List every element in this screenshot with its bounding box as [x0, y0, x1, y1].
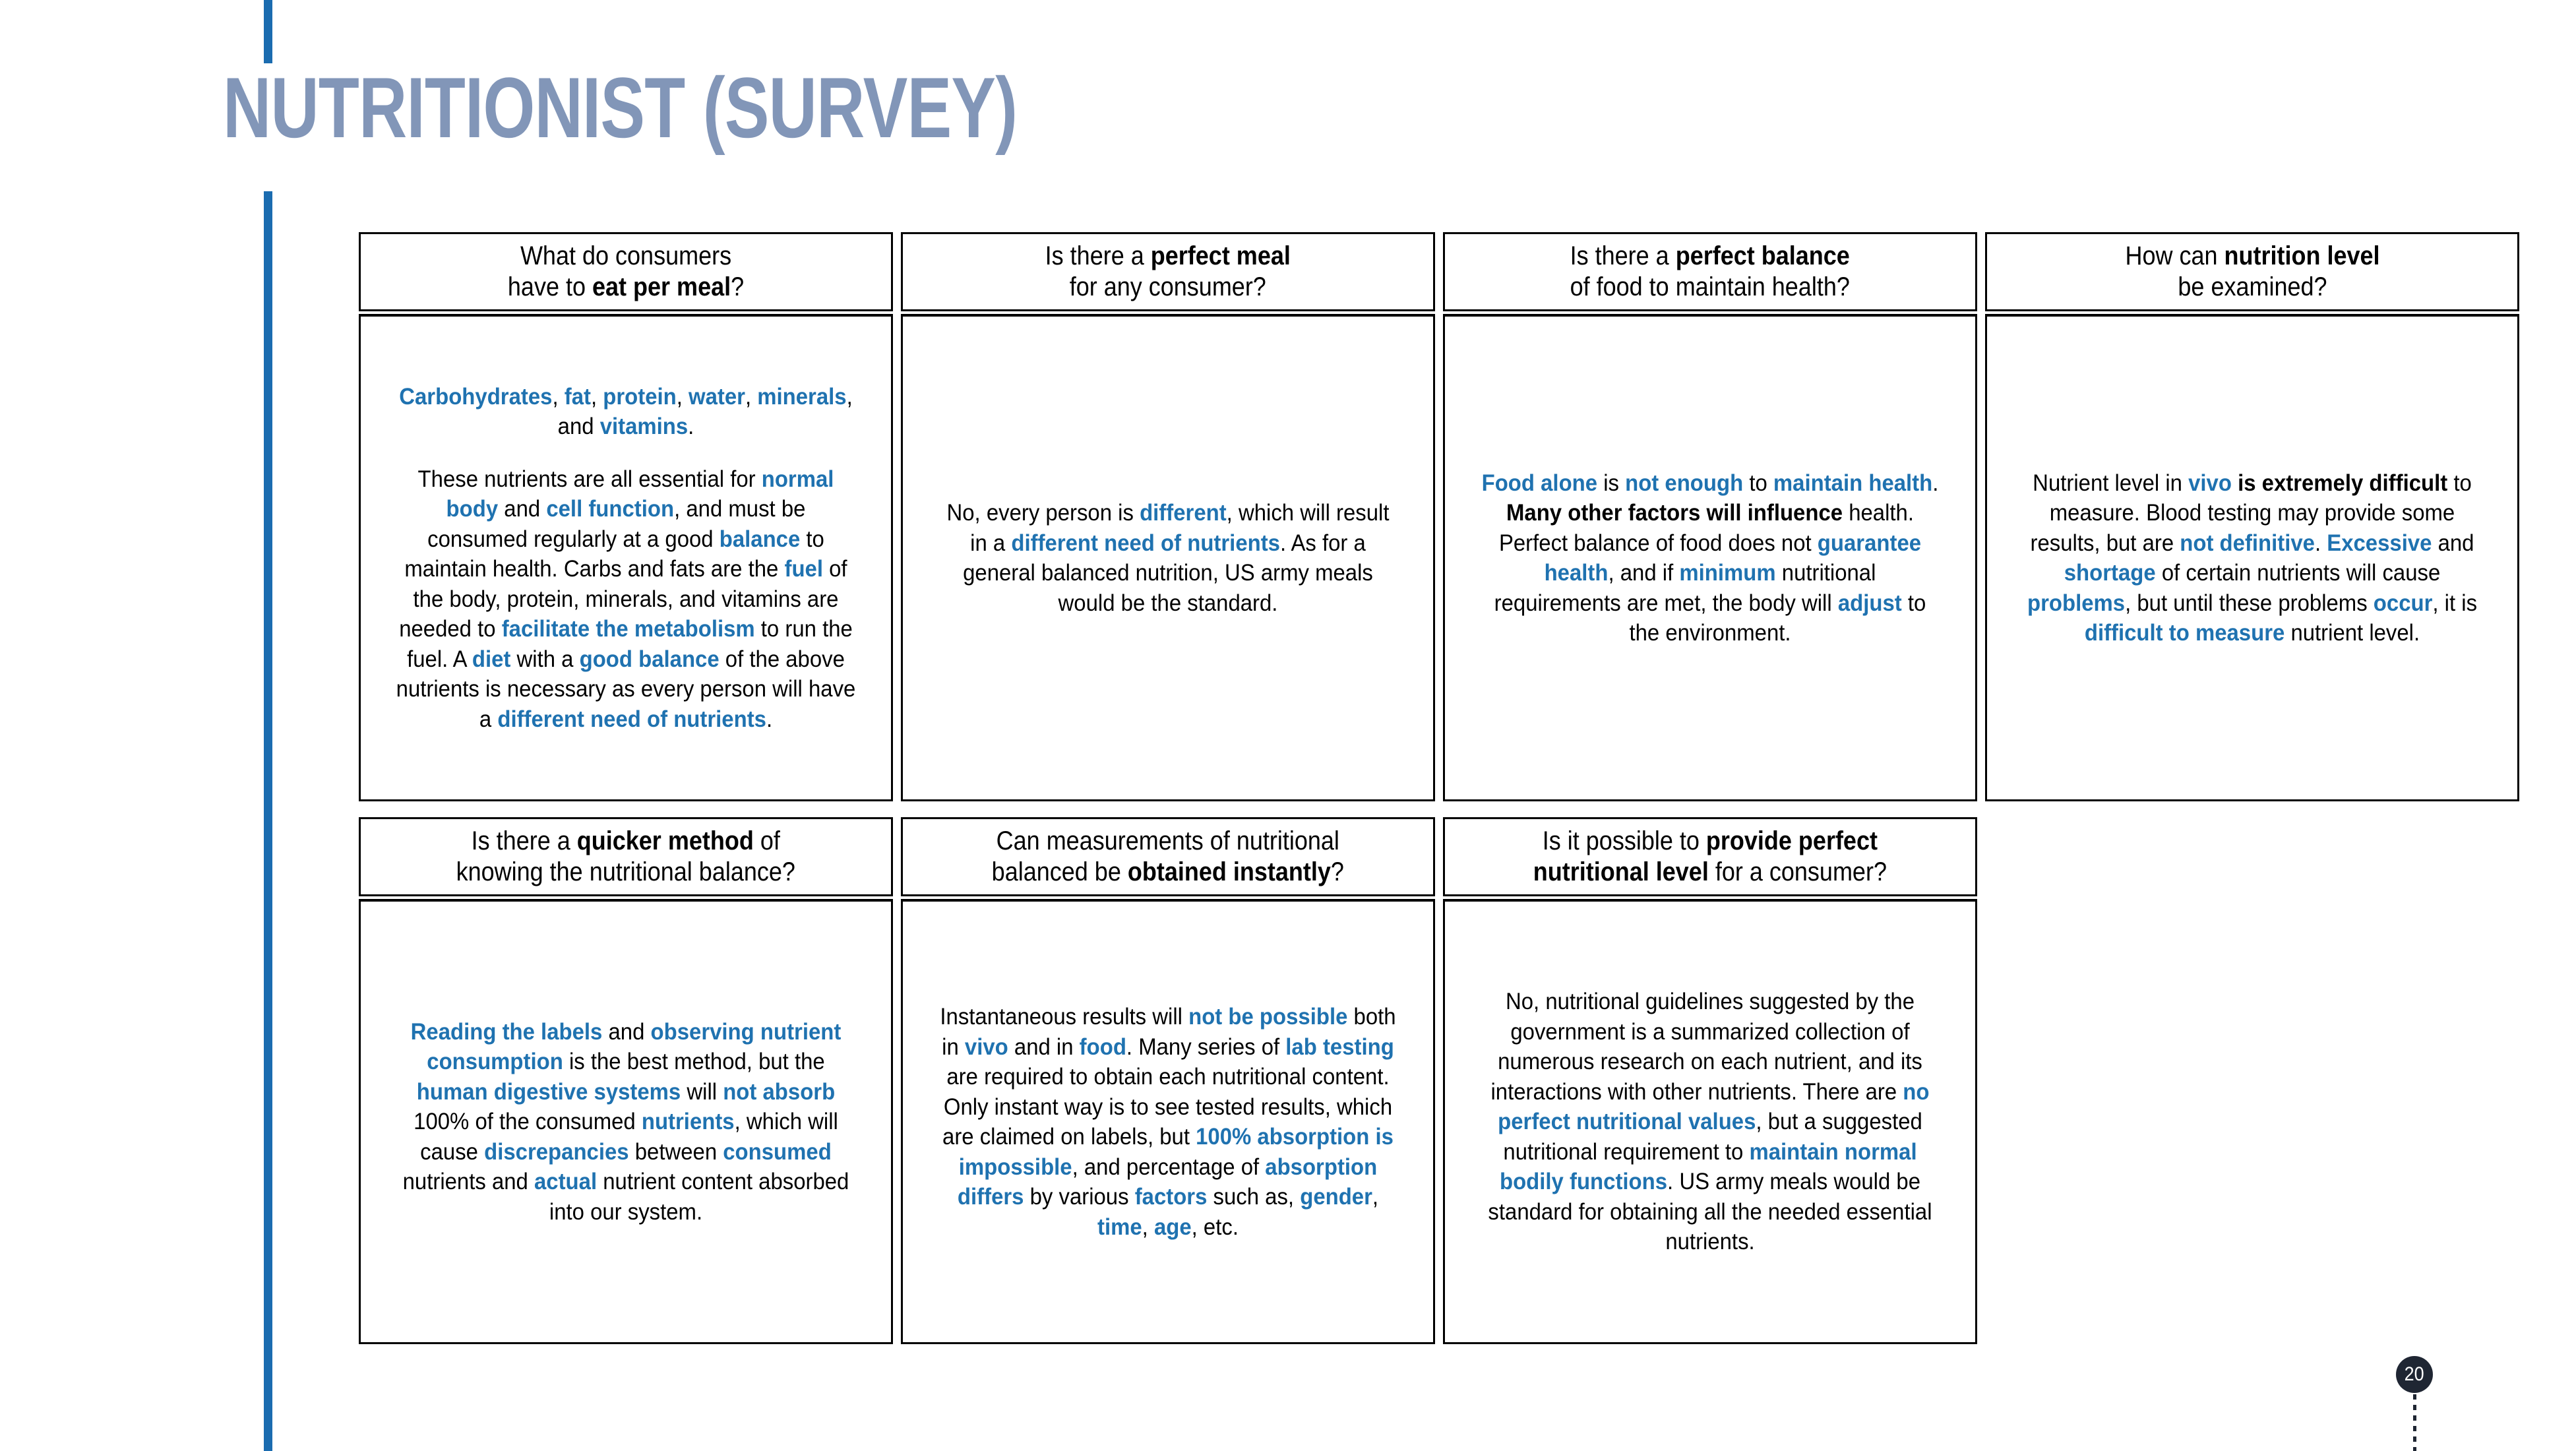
qa-card-1-answer-text: Carbohydrates, fat, protein, water, mine… — [394, 382, 857, 735]
qa-card-7-answer: No, nutritional guidelines suggested by … — [1443, 899, 1977, 1344]
qa-card-6[interactable]: Can measurements of nutritionalbalanced … — [901, 817, 1435, 1344]
qa-card-5-question-text: Is there a quicker method ofknowing the … — [456, 826, 795, 888]
qa-card-1-question-text: What do consumershave to eat per meal? — [508, 241, 744, 303]
qa-card-5-answer: Reading the labels and observing nutrien… — [359, 899, 893, 1344]
qa-card-4-answer: Nutrient level in vivo is extremely diff… — [1985, 314, 2519, 801]
qa-card-6-question: Can measurements of nutritionalbalanced … — [901, 817, 1435, 896]
qa-card-4-question: How can nutrition levelbe examined? — [1985, 232, 2519, 311]
qa-card-6-answer: Instantaneous results will not be possib… — [901, 899, 1435, 1344]
left-accent-bar-top — [264, 0, 272, 63]
qa-card-5-question: Is there a quicker method ofknowing the … — [359, 817, 893, 896]
qa-card-6-question-text: Can measurements of nutritionalbalanced … — [992, 826, 1344, 888]
qa-card-3-question: Is there a perfect balanceof food to mai… — [1443, 232, 1977, 311]
card-row-2: Is there a quicker method ofknowing the … — [359, 817, 2535, 1344]
qa-card-1[interactable]: What do consumershave to eat per meal? C… — [359, 232, 893, 801]
qa-card-grid: What do consumershave to eat per meal? C… — [359, 232, 2535, 1344]
qa-card-5-answer-text: Reading the labels and observing nutrien… — [394, 1017, 857, 1227]
qa-card-3[interactable]: Is there a perfect balanceof food to mai… — [1443, 232, 1977, 801]
qa-card-2-question: Is there a perfect mealfor any consumer? — [901, 232, 1435, 311]
qa-card-7-answer-text: No, nutritional guidelines suggested by … — [1478, 987, 1942, 1257]
page-number-label: 20 — [2405, 1365, 2424, 1384]
qa-card-4[interactable]: How can nutrition levelbe examined? Nutr… — [1985, 232, 2519, 801]
qa-card-2-answer-text: No, every person is different, which wil… — [936, 498, 1399, 618]
qa-card-7-question: Is it possible to provide perfectnutriti… — [1443, 817, 1977, 896]
qa-card-1-question: What do consumershave to eat per meal? — [359, 232, 893, 311]
card-row-1: What do consumershave to eat per meal? C… — [359, 232, 2535, 801]
qa-card-7-question-text: Is it possible to provide perfectnutriti… — [1533, 826, 1887, 888]
qa-card-1-answer: Carbohydrates, fat, protein, water, mine… — [359, 314, 893, 801]
page-number-badge: 20 — [2396, 1356, 2433, 1393]
qa-card-4-question-text: How can nutrition levelbe examined? — [2125, 241, 2379, 303]
left-accent-bar-bottom — [264, 191, 272, 1451]
qa-card-3-question-text: Is there a perfect balanceof food to mai… — [1570, 241, 1850, 303]
qa-card-6-answer-text: Instantaneous results will not be possib… — [936, 1002, 1399, 1242]
qa-card-5[interactable]: Is there a quicker method ofknowing the … — [359, 817, 893, 1344]
qa-card-2-question-text: Is there a perfect mealfor any consumer? — [1045, 241, 1291, 303]
qa-card-2-answer: No, every person is different, which wil… — [901, 314, 1435, 801]
qa-card-7[interactable]: Is it possible to provide perfectnutriti… — [1443, 817, 1977, 1344]
page-title: NUTRITIONIST (SURVEY) — [223, 65, 1017, 150]
qa-card-2[interactable]: Is there a perfect mealfor any consumer?… — [901, 232, 1435, 801]
qa-card-3-answer: Food alone is not enough to maintain hea… — [1443, 314, 1977, 801]
qa-card-4-answer-text: Nutrient level in vivo is extremely diff… — [2020, 468, 2484, 648]
qa-card-3-answer-text: Food alone is not enough to maintain hea… — [1478, 468, 1942, 648]
page-badge-dotted-line — [2413, 1394, 2416, 1451]
